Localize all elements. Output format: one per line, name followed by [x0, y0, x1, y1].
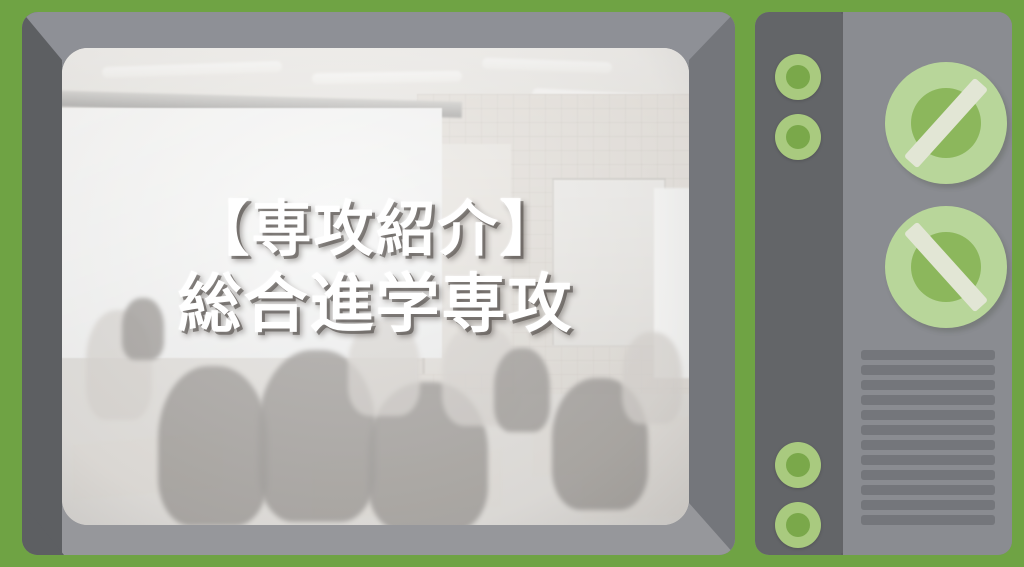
tv-body: 【専攻紹介】 総合進学専攻 — [22, 12, 735, 555]
volume-up-button-core — [786, 453, 810, 477]
power-button-core — [786, 65, 810, 89]
speaker-grille-line — [861, 515, 995, 525]
tuner-dial-lower[interactable] — [885, 206, 1007, 328]
control-panel-divider — [841, 12, 843, 555]
speaker-grille-line — [861, 380, 995, 390]
channel-button[interactable] — [775, 114, 821, 160]
speaker-grille — [861, 350, 995, 525]
speaker-grille-line — [861, 500, 995, 510]
speaker-grille-line — [861, 425, 995, 435]
photo-vignette — [62, 48, 689, 525]
speaker-grille-line — [861, 485, 995, 495]
tv-bevel-corner-bottom-right — [689, 503, 735, 555]
speaker-grille-line — [861, 365, 995, 375]
tv-bevel-corner-top-left — [22, 12, 62, 60]
power-button[interactable] — [775, 54, 821, 100]
speaker-grille-line — [861, 410, 995, 420]
tv-bevel-corner-top-right — [689, 12, 735, 60]
speaker-grille-line — [861, 440, 995, 450]
classroom-photo — [62, 48, 689, 525]
channel-button-core — [786, 125, 810, 149]
volume-down-button-core — [786, 513, 810, 537]
control-panel-button-column — [755, 12, 841, 555]
speaker-grille-line — [861, 350, 995, 360]
volume-up-button[interactable] — [775, 442, 821, 488]
speaker-grille-line — [861, 470, 995, 480]
tv-bevel-corner-bottom-left — [22, 503, 64, 555]
speaker-grille-line — [861, 455, 995, 465]
tuner-dial-upper[interactable] — [885, 62, 1007, 184]
tv-bevel-right — [689, 12, 735, 555]
volume-down-button[interactable] — [775, 502, 821, 548]
tv-control-panel — [755, 12, 1012, 555]
speaker-grille-line — [861, 395, 995, 405]
tv-thumbnail-stage: 【専攻紹介】 総合進学専攻 — [0, 0, 1024, 567]
tv-bevel-left — [22, 12, 62, 555]
tv-screen[interactable]: 【専攻紹介】 総合進学専攻 — [62, 48, 689, 525]
control-panel-main-area — [843, 12, 1012, 555]
